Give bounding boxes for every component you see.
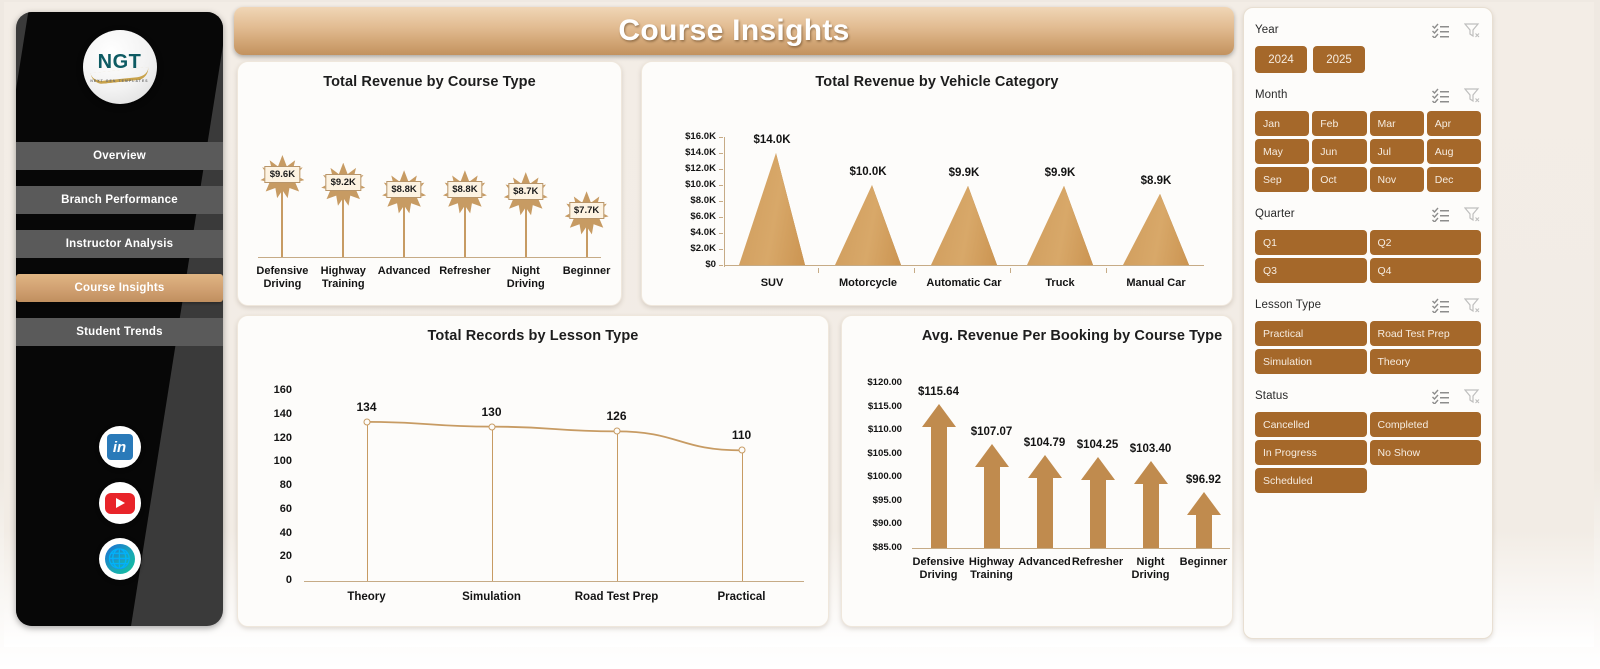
multi-select-button[interactable]: [1432, 23, 1450, 38]
y-axis-tick-label: 0: [246, 574, 292, 586]
slicer-option-q3[interactable]: Q3: [1255, 258, 1367, 283]
category-label: Road Test Prep: [554, 591, 679, 604]
slicer-options: 20242025: [1255, 46, 1481, 73]
chart-title: Avg. Revenue Per Booking by Course Type: [842, 328, 1302, 344]
y-axis-tick-label: 120: [246, 432, 292, 444]
slicer-option-scheduled[interactable]: Scheduled: [1255, 468, 1367, 493]
pyramid-front-face: [931, 186, 997, 265]
sidebar-item-instructor-analysis[interactable]: Instructor Analysis: [16, 230, 223, 258]
x-axis-line: [724, 265, 1204, 266]
slicer-icons: [1432, 88, 1481, 103]
linkedin-link[interactable]: in: [99, 426, 141, 468]
category-label: Defensive Driving: [252, 265, 313, 290]
page-header: Course Insights: [234, 7, 1234, 55]
category-label: Refresher: [1067, 556, 1128, 569]
category-label: Beginner: [1173, 556, 1234, 569]
data-label: $9.6K: [265, 166, 300, 183]
drop-line: [742, 450, 743, 581]
data-point-marker[interactable]: [488, 423, 495, 430]
data-label: $8.9K: [1116, 175, 1196, 187]
drop-line: [617, 431, 618, 581]
category-label: Simulation: [429, 591, 554, 604]
pyramid-bar: [1123, 194, 1189, 265]
slicer-header: Status: [1255, 388, 1481, 404]
pyramid-bar: [931, 186, 997, 265]
y-axis-tick-mark: [719, 153, 723, 154]
arrow-shaft: [1090, 478, 1106, 548]
slicer-option-road-test-prep[interactable]: Road Test Prep: [1370, 321, 1482, 346]
x-axis-tick-mark: [1106, 268, 1107, 273]
clear-filter-icon: [1464, 207, 1481, 222]
slicer-option-oct[interactable]: Oct: [1312, 167, 1366, 192]
multi-select-button[interactable]: [1432, 207, 1450, 222]
data-label: $103.40: [1111, 443, 1191, 455]
y-axis-tick-mark: [719, 169, 723, 170]
category-label: Manual Car: [1108, 277, 1204, 290]
multi-select-icon: [1432, 88, 1450, 103]
y-axis-tick-mark: [719, 233, 723, 234]
y-axis-tick-label: 100: [246, 455, 292, 467]
slicer-icons: [1432, 389, 1481, 404]
sidebar-nav: Overview Branch Performance Instructor A…: [16, 142, 223, 362]
data-label: 134: [327, 400, 407, 414]
clear-filter-icon: [1464, 23, 1481, 38]
report-stage: NGT NEXT GEN TEMPLATES Overview Branch P…: [4, 2, 1594, 647]
y-axis-tick-label: 60: [246, 503, 292, 515]
sidebar-item-overview[interactable]: Overview: [16, 142, 223, 170]
sidebar-item-student-trends[interactable]: Student Trends: [16, 318, 223, 346]
data-label: 126: [577, 409, 657, 423]
category-label: Truck: [1012, 277, 1108, 290]
y-axis-tick-label: 20: [246, 550, 292, 562]
app-logo: NGT NEXT GEN TEMPLATES: [83, 30, 157, 104]
arrow-shaft: [931, 425, 947, 548]
y-axis-tick-label: $6.0K: [662, 211, 716, 222]
data-point-marker[interactable]: [738, 447, 745, 454]
y-axis-tick-label: $14.0K: [662, 147, 716, 158]
clear-filter-button[interactable]: [1464, 88, 1481, 103]
clear-filter-icon: [1464, 298, 1481, 313]
y-axis-tick-label: $85.00: [850, 542, 902, 553]
slicer-option-aug[interactable]: Aug: [1427, 139, 1481, 164]
chart-plot-area: 020406080100120140160134Theory130Simulat…: [246, 356, 821, 621]
slicer-option-in-progress[interactable]: In Progress: [1255, 440, 1367, 465]
data-label: $9.9K: [924, 167, 1004, 179]
pyramid-front-face: [1123, 194, 1189, 265]
slicer-option-nov[interactable]: Nov: [1370, 167, 1424, 192]
y-axis-tick-label: $100.00: [850, 471, 902, 482]
slicer-options: PracticalRoad Test PrepSimulationTheory: [1255, 321, 1481, 374]
slicer-title: Status: [1255, 390, 1288, 402]
globe-icon: 🌐: [105, 544, 135, 574]
sidebar-item-label: Branch Performance: [61, 194, 178, 206]
x-axis-tick-mark: [818, 268, 819, 273]
y-axis-tick-label: 160: [246, 384, 292, 396]
page-title: Course Insights: [618, 14, 849, 48]
clear-filter-icon: [1464, 88, 1481, 103]
y-axis-tick-label: $115.00: [850, 401, 902, 412]
slicer-icons: [1432, 298, 1481, 313]
category-label: Practical: [679, 591, 804, 604]
y-axis-tick-label: $105.00: [850, 448, 902, 459]
arrow-head: [975, 444, 1009, 467]
y-axis-tick-label: $120.00: [850, 377, 902, 388]
slicer-option-jun[interactable]: Jun: [1312, 139, 1366, 164]
category-label: Advanced: [1014, 556, 1075, 569]
slicer-year: Year 20242025: [1255, 22, 1481, 73]
multi-select-icon: [1432, 389, 1450, 404]
slicer-title: Quarter: [1255, 208, 1295, 220]
y-axis-tick-mark: [719, 249, 723, 250]
category-label: Night Driving: [495, 265, 556, 290]
slicer-header: Lesson Type: [1255, 297, 1481, 313]
arrow-head: [1134, 461, 1168, 484]
slicer-option-completed[interactable]: Completed: [1370, 412, 1482, 437]
chart-card-revenue-by-course-type: Total Revenue by Course Type $9.6KDefens…: [237, 61, 622, 306]
multi-select-icon: [1432, 298, 1450, 313]
y-axis-tick-mark: [719, 185, 723, 186]
arrow-shaft: [1143, 482, 1159, 548]
y-axis-tick-mark: [719, 265, 723, 266]
pyramid-bar: [739, 153, 805, 265]
pyramid-front-face: [835, 185, 901, 265]
social-links: in 🌐: [16, 426, 223, 580]
y-axis-tick-label: $4.0K: [662, 227, 716, 238]
data-label: $9.2K: [326, 174, 361, 191]
slicer-icons: [1432, 23, 1481, 38]
arrow-bar: [972, 444, 1012, 548]
arrow-head: [1081, 457, 1115, 480]
chart-plot-area: $85.00$90.00$95.00$100.00$105.00$110.00$…: [850, 358, 1230, 623]
y-axis-tick-label: $95.00: [850, 495, 902, 506]
multi-select-button[interactable]: [1432, 88, 1450, 103]
youtube-link[interactable]: [99, 482, 141, 524]
slicer-option-dec[interactable]: Dec: [1427, 167, 1481, 192]
arrow-shaft: [984, 465, 1000, 548]
category-label: Motorcycle: [820, 277, 916, 290]
category-label: Advanced: [374, 265, 435, 278]
slicer-option-no-show[interactable]: No Show: [1370, 440, 1482, 465]
youtube-icon: [105, 493, 135, 514]
slicer-option-q1[interactable]: Q1: [1255, 230, 1367, 255]
data-label: $96.92: [1164, 474, 1244, 486]
y-axis-tick-mark: [719, 137, 723, 138]
data-label: $8.8K: [386, 181, 421, 198]
sidebar-item-label: Instructor Analysis: [66, 238, 174, 250]
drop-line: [367, 422, 368, 581]
y-axis-tick-label: $16.0K: [662, 131, 716, 142]
y-axis-tick-label: $10.0K: [662, 179, 716, 190]
y-axis-tick-label: $110.00: [850, 424, 902, 435]
chart-title: Total Revenue by Course Type: [238, 74, 621, 90]
sidebar-item-course-insights[interactable]: Course Insights: [16, 274, 223, 302]
y-axis-tick-label: $12.0K: [662, 163, 716, 174]
multi-select-button[interactable]: [1432, 389, 1450, 404]
sidebar-item-branch-performance[interactable]: Branch Performance: [16, 186, 223, 214]
y-axis-tick-mark: [719, 217, 723, 218]
slicer-option-2024[interactable]: 2024: [1255, 46, 1307, 73]
chart-card-revenue-by-vehicle-category: Total Revenue by Vehicle Category $0$2.0…: [641, 61, 1233, 306]
data-label: $115.64: [899, 386, 979, 398]
y-axis-tick-mark: [719, 201, 723, 202]
data-label: $8.8K: [447, 181, 482, 198]
data-label: 130: [452, 405, 532, 419]
x-axis-line: [304, 581, 804, 582]
website-link[interactable]: 🌐: [99, 538, 141, 580]
slicer-month: Month JanFebMarAprMayJunJulAugSepOctNovD…: [1255, 87, 1481, 192]
slicer-option-theory[interactable]: Theory: [1370, 349, 1482, 374]
slicer-header: Year: [1255, 22, 1481, 38]
data-label: $8.7K: [508, 183, 543, 200]
data-label: $10.0K: [828, 166, 908, 178]
category-label: Night Driving: [1120, 556, 1181, 581]
slicer-option-cancelled[interactable]: Cancelled: [1255, 412, 1367, 437]
y-axis-tick-label: 40: [246, 527, 292, 539]
slicer-quarter: Quarter Q1Q2Q3Q4: [1255, 206, 1481, 283]
drop-line: [492, 427, 493, 581]
y-axis-tick-label: 80: [246, 479, 292, 491]
x-axis-line: [912, 548, 1230, 549]
slicer-option-jan[interactable]: Jan: [1255, 111, 1309, 136]
slicer-header: Quarter: [1255, 206, 1481, 222]
category-label: Refresher: [435, 265, 496, 278]
data-point-marker[interactable]: [363, 418, 370, 425]
category-label: Theory: [304, 591, 429, 604]
slicer-option-jul[interactable]: Jul: [1370, 139, 1424, 164]
logo-text: NGT: [98, 52, 142, 72]
chart-card-records-by-lesson-type: Total Records by Lesson Type 02040608010…: [237, 315, 829, 627]
linkedin-icon: in: [107, 434, 133, 460]
slicer-option-may[interactable]: May: [1255, 139, 1309, 164]
sidebar-item-label: Overview: [93, 150, 146, 162]
clear-filter-icon: [1464, 389, 1481, 404]
slicer-icons: [1432, 207, 1481, 222]
y-axis-tick-label: $2.0K: [662, 243, 716, 254]
chart-title: Total Records by Lesson Type: [238, 328, 828, 344]
slicer-option-feb[interactable]: Feb: [1312, 111, 1366, 136]
slicer-title: Lesson Type: [1255, 299, 1321, 311]
filter-panel: Year 20242025Month JanFebMarAprMayJunJul…: [1243, 7, 1493, 639]
y-axis-tick-label: $8.0K: [662, 195, 716, 206]
arrow-shaft: [1196, 513, 1212, 548]
chart-plot-area: $9.6KDefensive Driving$9.2KHighway Train…: [248, 117, 613, 302]
arrow-bar: [1078, 457, 1118, 548]
data-label: $7.7K: [569, 202, 604, 219]
arrow-head: [1187, 492, 1221, 515]
logo-tagline: NEXT GEN TEMPLATES: [90, 79, 148, 83]
slicer-options: CancelledCompletedIn ProgressNo ShowSche…: [1255, 412, 1481, 493]
slicer-option-apr[interactable]: Apr: [1427, 111, 1481, 136]
multi-select-icon: [1432, 23, 1450, 38]
pyramid-front-face: [739, 153, 805, 265]
slicer-options: JanFebMarAprMayJunJulAugSepOctNovDec: [1255, 111, 1481, 192]
slicer-option-2025[interactable]: 2025: [1313, 46, 1365, 73]
sidebar: NGT NEXT GEN TEMPLATES Overview Branch P…: [16, 12, 223, 626]
multi-select-icon: [1432, 207, 1450, 222]
chart-title: Total Revenue by Vehicle Category: [642, 74, 1232, 90]
arrow-head: [922, 404, 956, 427]
category-label: Automatic Car: [916, 277, 1012, 290]
slicer-header: Month: [1255, 87, 1481, 103]
x-axis-tick-mark: [1010, 268, 1011, 273]
pyramid-front-face: [1027, 186, 1093, 265]
data-label: $14.0K: [732, 134, 812, 146]
clear-filter-button[interactable]: [1464, 298, 1481, 313]
slicer-option-q2[interactable]: Q2: [1370, 230, 1482, 255]
pyramid-bar: [835, 185, 901, 265]
category-label: SUV: [724, 277, 820, 290]
sidebar-item-label: Course Insights: [75, 282, 165, 294]
chart-plot-area: $0$2.0K$4.0K$6.0K$8.0K$10.0K$12.0K$14.0K…: [662, 110, 1217, 300]
multi-select-button[interactable]: [1432, 298, 1450, 313]
clear-filter-button[interactable]: [1464, 207, 1481, 222]
arrow-shaft: [1037, 476, 1053, 548]
sidebar-item-label: Student Trends: [76, 326, 163, 338]
arrow-bar: [1025, 455, 1065, 548]
chart-card-avg-revenue-per-booking: Avg. Revenue Per Booking by Course Type …: [841, 315, 1233, 627]
x-axis-line: [258, 257, 601, 258]
slicer-title: Year: [1255, 24, 1279, 36]
slicer-options: Q1Q2Q3Q4: [1255, 230, 1481, 283]
category-label: Defensive Driving: [908, 556, 969, 581]
x-axis-tick-mark: [914, 268, 915, 273]
slicer-lesson-type: Lesson Type PracticalRoad Test PrepSimul…: [1255, 297, 1481, 374]
slicer-option-mar[interactable]: Mar: [1370, 111, 1424, 136]
slicer-title: Month: [1255, 89, 1287, 101]
arrow-head: [1028, 455, 1062, 478]
category-label: Highway Training: [961, 556, 1022, 581]
clear-filter-button[interactable]: [1464, 23, 1481, 38]
y-axis-tick-label: $0: [662, 259, 716, 270]
slicer-option-q4[interactable]: Q4: [1370, 258, 1482, 283]
y-axis-tick-label: 140: [246, 408, 292, 420]
slicer-option-simulation[interactable]: Simulation: [1255, 349, 1367, 374]
slicer-option-practical[interactable]: Practical: [1255, 321, 1367, 346]
slicer-option-sep[interactable]: Sep: [1255, 167, 1309, 192]
data-label: 110: [702, 428, 782, 442]
y-axis-tick-label: $90.00: [850, 518, 902, 529]
clear-filter-button[interactable]: [1464, 389, 1481, 404]
pyramid-bar: [1027, 186, 1093, 265]
slicer-status: Status CancelledCompletedIn ProgressNo S…: [1255, 388, 1481, 493]
arrow-bar: [1184, 492, 1224, 548]
category-label: Highway Training: [313, 265, 374, 290]
category-label: Beginner: [556, 265, 617, 278]
data-point-marker[interactable]: [613, 428, 620, 435]
data-label: $9.9K: [1020, 167, 1100, 179]
dashboard-canvas: NGT NEXT GEN TEMPLATES Overview Branch P…: [0, 0, 1600, 669]
y-axis-line: [724, 137, 725, 267]
